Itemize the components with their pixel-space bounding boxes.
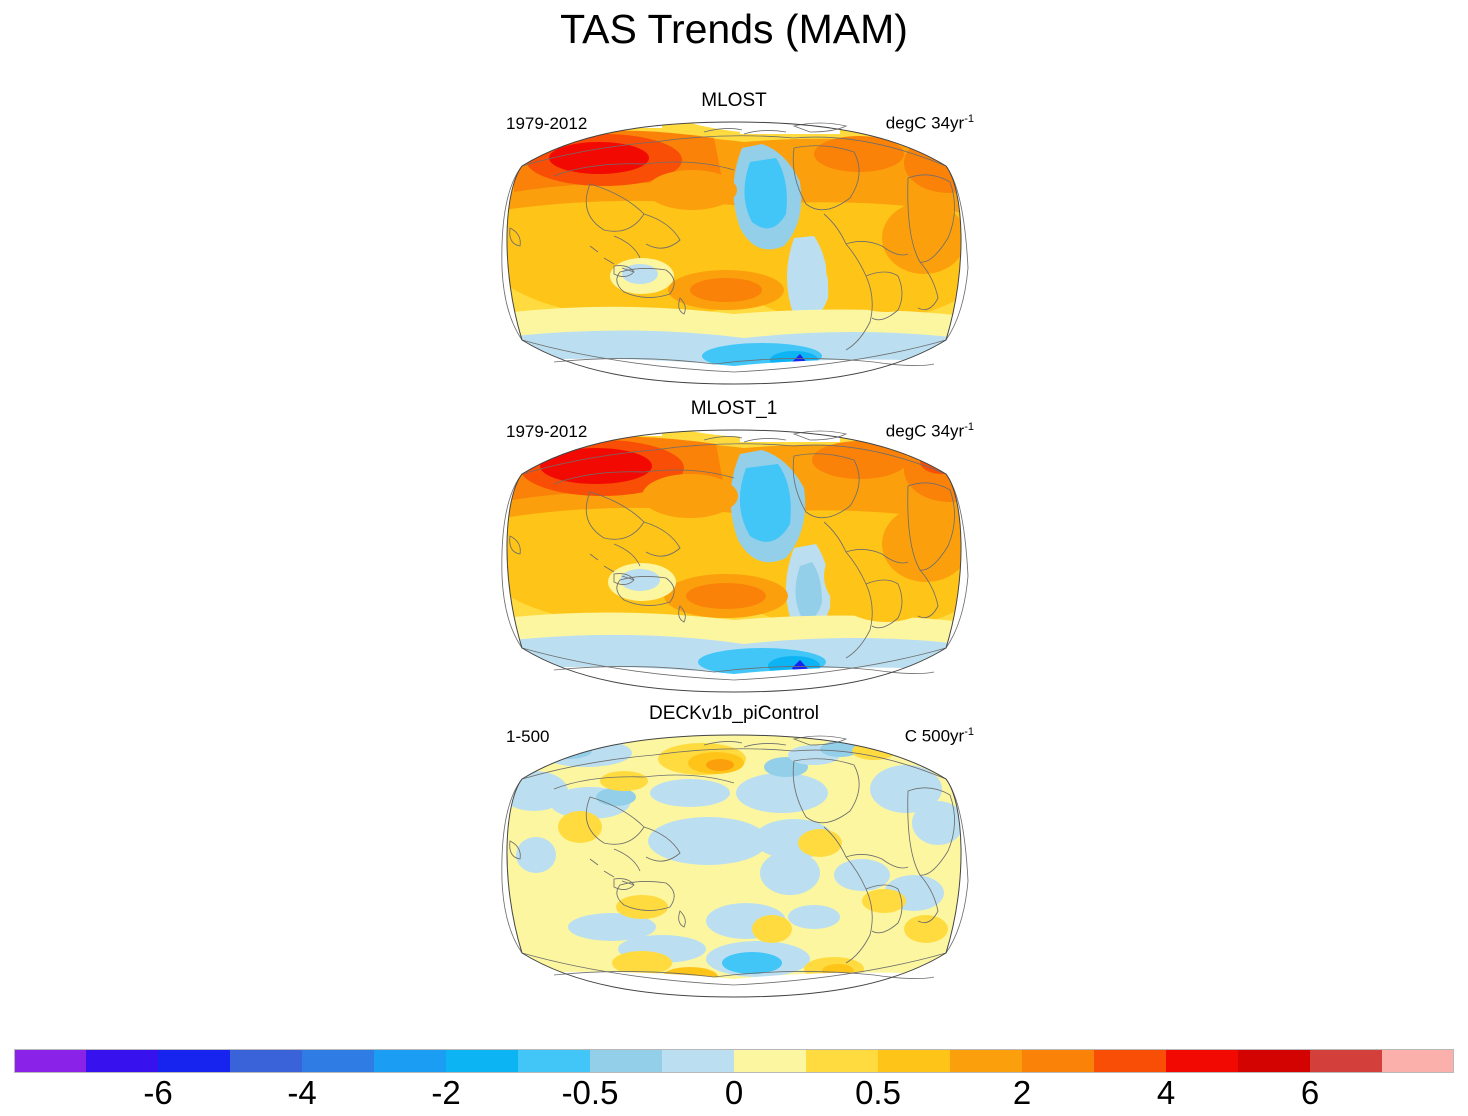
map-2 (494, 426, 974, 696)
colorbar-cell-12[interactable] (878, 1049, 950, 1073)
colorbar-tick-2: 2 (1013, 1074, 1031, 1112)
map-3 (494, 731, 974, 1001)
map-svg-1 (494, 118, 974, 388)
panel-title-1: MLOST (494, 90, 974, 112)
colorbar-tick-labels: -6-4-2-0.500.5246 (0, 1074, 1468, 1116)
colorbar-tick-0: 0 (725, 1074, 743, 1112)
colorbar-tick-6: 6 (1301, 1074, 1319, 1112)
colorbar-cell-0[interactable] (14, 1049, 86, 1073)
colorbar-cell-15[interactable] (1094, 1049, 1166, 1073)
colorbar-cell-16[interactable] (1166, 1049, 1238, 1073)
colorbar[interactable] (14, 1049, 1454, 1073)
figure-canvas: TAS Trends (MAM) MLOST 1979-2012 degC 34… (0, 0, 1468, 1116)
colorbar-cell-6[interactable] (446, 1049, 518, 1073)
colorbar-tick-4: 4 (1157, 1074, 1175, 1112)
colorbar-cell-14[interactable] (1022, 1049, 1094, 1073)
colorbar-cell-11[interactable] (806, 1049, 878, 1073)
colorbar-cell-1[interactable] (86, 1049, 158, 1073)
map-field-3 (494, 731, 974, 1001)
map-1 (494, 118, 974, 388)
map-svg-2 (494, 426, 974, 696)
map-field-2 (494, 426, 974, 696)
colorbar-cell-8[interactable] (590, 1049, 662, 1073)
colorbar-cell-3[interactable] (230, 1049, 302, 1073)
colorbar-cell-13[interactable] (950, 1049, 1022, 1073)
panel-title-2: MLOST_1 (494, 398, 974, 420)
colorbar-tick--6: -6 (143, 1074, 172, 1112)
colorbar-cell-7[interactable] (518, 1049, 590, 1073)
colorbar-cell-19[interactable] (1382, 1049, 1454, 1073)
colorbar-tick--4: -4 (287, 1074, 316, 1112)
colorbar-cell-2[interactable] (158, 1049, 230, 1073)
colorbar-tick-0.5: 0.5 (855, 1074, 901, 1112)
colorbar-cell-4[interactable] (302, 1049, 374, 1073)
colorbar-tick--0.5: -0.5 (562, 1074, 619, 1112)
colorbar-cell-9[interactable] (662, 1049, 734, 1073)
map-field-1 (494, 118, 974, 388)
colorbar-cell-10[interactable] (734, 1049, 806, 1073)
panel-title-3: DECKv1b_piControl (494, 703, 974, 725)
map-svg-3 (494, 731, 974, 1001)
colorbar-cell-5[interactable] (374, 1049, 446, 1073)
colorbar-cell-17[interactable] (1238, 1049, 1310, 1073)
page-title: TAS Trends (MAM) (0, 6, 1468, 53)
colorbar-cell-18[interactable] (1310, 1049, 1382, 1073)
colorbar-tick--2: -2 (431, 1074, 460, 1112)
